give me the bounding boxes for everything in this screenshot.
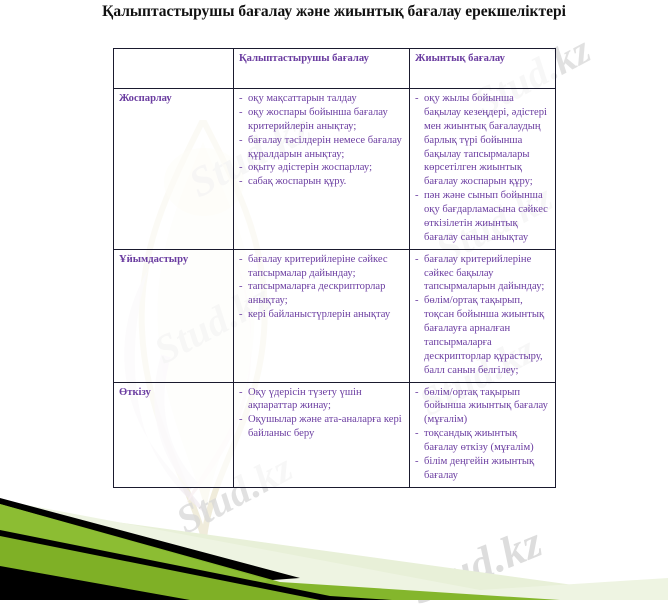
column-header-stage [114,49,234,89]
bottom-angled-bands [0,470,668,600]
list-item: бағалау критерийлеріне сәйкес тапсырмала… [239,253,404,281]
list-item: бағалау критерийлеріне сәйкес бақылау та… [415,253,550,295]
list-item: Оқу үдерісін түзету үшін ақпараттар жина… [239,386,404,414]
stage-label: Жоспарлау [114,89,234,250]
list-item: оқу жылы бойынша бақылау кезеңдері, әдіс… [415,92,550,189]
list-item: оқу жоспары бойынша бағалау критерийлері… [239,106,404,134]
list-item: оқу мақсаттарын талдау [239,92,404,106]
summative-cell: бөлім/ортақ тақырып бойынша жиынтық баға… [410,382,556,487]
formative-cell: бағалау критерийлеріне сәйкес тапсырмала… [234,249,410,382]
list-item: оқыту әдістерін жоспарлау; [239,161,404,175]
summative-cell: оқу жылы бойынша бақылау кезеңдері, әдіс… [410,89,556,250]
list-item: бөлім/ортақ тақырып, тоқсан бойынша жиын… [415,294,550,377]
formative-cell: Оқу үдерісін түзету үшін ақпараттар жина… [234,382,410,487]
summative-cell: бағалау критерийлеріне сәйкес бақылау та… [410,249,556,382]
bullet-list: оқу мақсаттарын талдау оқу жоспары бойын… [239,92,404,189]
list-item: сабақ жоспарын құру. [239,175,404,189]
list-item: тапсырмаларға дескрипторлар анықтау; [239,280,404,308]
list-item: пән және сынып бойынша оқу бағдарламасын… [415,189,550,245]
list-item: бөлім/ортақ тақырып бойынша жиынтық баға… [415,386,550,428]
page-title: Қалыптастырушы бағалау және жиынтық баға… [0,0,668,22]
table-row: Жоспарлау оқу мақсаттарын талдау оқу жос… [114,89,556,250]
stage-label: Ұйымдастыру [114,249,234,382]
list-item: Оқушылар және ата-аналарға кері байланыс… [239,413,404,441]
bullet-list: оқу жылы бойынша бақылау кезеңдері, әдіс… [415,92,550,245]
bullet-list: Оқу үдерісін түзету үшін ақпараттар жина… [239,386,404,442]
list-item: тоқсандық жиынтық бағалау өткізу (мұғалі… [415,427,550,455]
formative-cell: оқу мақсаттарын талдау оқу жоспары бойын… [234,89,410,250]
table-header-row: Қалыптастырушы бағалау Жиынтық бағалау [114,49,556,89]
column-header-summative: Жиынтық бағалау [410,49,556,89]
column-header-formative: Қалыптастырушы бағалау [234,49,410,89]
bullet-list: бағалау критерийлеріне сәйкес бақылау та… [415,253,550,378]
bullet-list: бөлім/ортақ тақырып бойынша жиынтық баға… [415,386,550,483]
table-row: Ұйымдастыру бағалау критерийлеріне сәйке… [114,249,556,382]
list-item: білім деңгейін жиынтық бағалау [415,455,550,483]
stage-label: Өткізу [114,382,234,487]
bullet-list: бағалау критерийлеріне сәйкес тапсырмала… [239,253,404,322]
assessment-comparison-table: Қалыптастырушы бағалау Жиынтық бағалау Ж… [113,48,556,488]
list-item: бағалау тәсілдерін немесе бағалау құралд… [239,134,404,162]
list-item: кері байланыстүрлерін анықтау [239,308,404,322]
table-row: Өткізу Оқу үдерісін түзету үшін ақпаратт… [114,382,556,487]
